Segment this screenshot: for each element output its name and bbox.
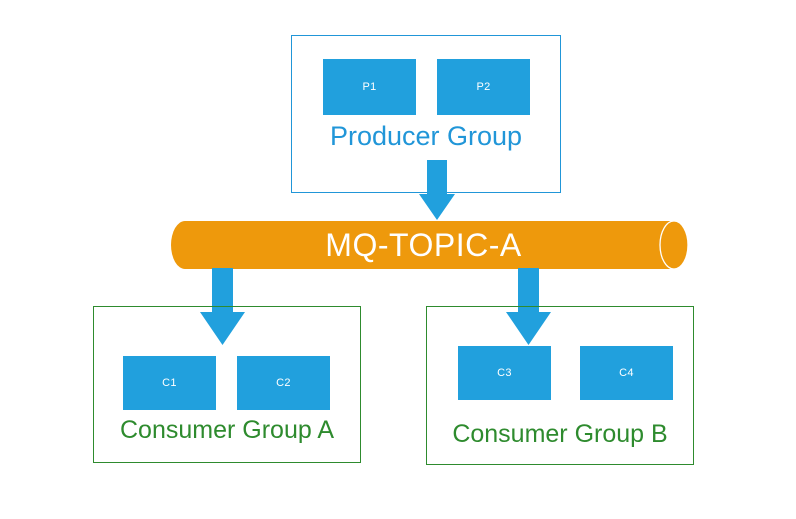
consumer-node-c2[interactable]: C2: [237, 356, 330, 410]
producer-node-p2-label: P2: [476, 82, 490, 93]
arrow-down-icon: [417, 160, 457, 222]
consumer-group-b-caption: Consumer Group B: [425, 422, 695, 447]
consumer-node-c2-label: C2: [276, 378, 291, 389]
consumer-node-c3[interactable]: C3: [458, 346, 551, 400]
topic-label-wrapper: MQ-TOPIC-A: [171, 221, 676, 269]
diagram-canvas: P1 P2 Producer Group MQ-TOPIC-A: [0, 0, 796, 519]
producer-group-caption: Producer Group: [291, 123, 561, 150]
consumer-node-c1-label: C1: [162, 378, 177, 389]
consumer-node-c3-label: C3: [497, 368, 512, 379]
arrow-producer-to-topic: [417, 160, 457, 222]
consumer-group-a-caption: Consumer Group A: [92, 418, 362, 443]
producer-node-p1-label: P1: [362, 82, 376, 93]
consumer-node-c4[interactable]: C4: [580, 346, 673, 400]
topic-label: MQ-TOPIC-A: [325, 229, 521, 261]
producer-node-p2[interactable]: P2: [437, 59, 530, 115]
consumer-node-c4-label: C4: [619, 368, 634, 379]
producer-node-p1[interactable]: P1: [323, 59, 416, 115]
consumer-node-c1[interactable]: C1: [123, 356, 216, 410]
